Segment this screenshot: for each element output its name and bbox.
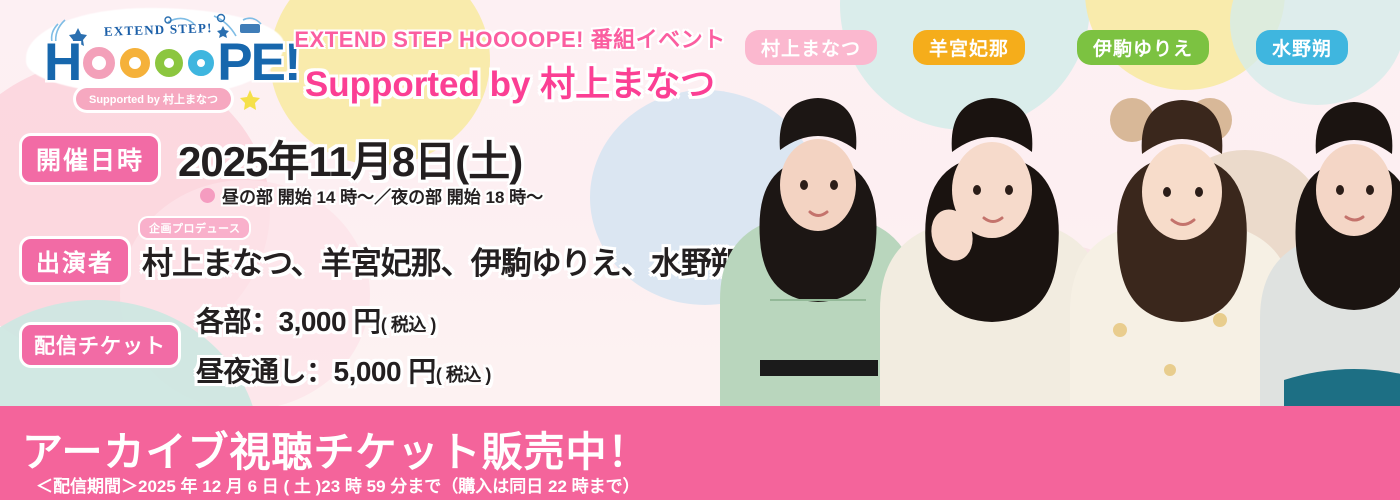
logo-wordmark: H PE! xyxy=(44,32,300,93)
bullet-dot-icon xyxy=(200,188,215,203)
price-block: 各部：3,000 円( 税込 ) 昼夜通し：5,000 円( 税込 ) xyxy=(196,300,491,390)
logo-ring-2 xyxy=(120,48,150,78)
headline-line-2: Supported by 村上まなつ xyxy=(290,56,730,107)
archive-banner-subtext: ＜配信期間＞2025 年 12 月 6 日 ( 土 )23 時 59 分まで（購… xyxy=(36,472,640,497)
date-label-tag: 開催日時 xyxy=(22,136,158,182)
ticket-label-tag: 配信チケット xyxy=(22,325,178,365)
price-2-value: 昼夜通し：5,000 円 xyxy=(196,356,436,387)
ticket-row: 配信チケット 各部：3,000 円( 税込 ) 昼夜通し：5,000 円( 税込… xyxy=(22,300,491,390)
price-1-value: 各部：3,000 円 xyxy=(196,306,381,337)
date-subtext-label: 昼の部 開始 14 時～／夜の部 開始 18 時～ xyxy=(222,183,543,208)
headline-line-1: EXTEND STEP HOOOOPE! 番組イベント xyxy=(290,22,730,54)
cast-value: 村上まなつ、羊宮妃那、伊駒ゆりえ、水野朔 xyxy=(142,238,741,283)
logo-ring-4 xyxy=(188,50,214,76)
logo-supported-badge: Supported by 村上まなつ xyxy=(76,88,231,110)
logo-letter-pe: PE! xyxy=(217,32,299,93)
date-value: 2025年11月8日(土) xyxy=(178,128,522,189)
price-line-1: 各部：3,000 円( 税込 ) xyxy=(196,300,491,340)
logo-letter-h: H xyxy=(44,32,80,93)
price-line-2: 昼夜通し：5,000 円( 税込 ) xyxy=(196,350,491,390)
price-2-tax: ( 税込 ) xyxy=(436,365,491,385)
logo-ring-3 xyxy=(155,49,183,77)
headline: EXTEND STEP HOOOOPE! 番組イベント Supported by… xyxy=(290,22,730,107)
hooope-logo[interactable]: EXTEND STEP! H PE! Supported by 村上まなつ xyxy=(18,2,293,114)
archive-ticket-banner[interactable]: アーカイブ視聴チケット販売中！ ＜配信期間＞2025 年 12 月 6 日 ( … xyxy=(0,406,1400,500)
cast-row: 出演者 村上まなつ、羊宮妃那、伊駒ゆりえ、水野朔 xyxy=(22,238,741,283)
cast-label-tag: 出演者 xyxy=(22,239,128,282)
logo-ring-1 xyxy=(83,47,115,79)
price-1-tax: ( 税込 ) xyxy=(381,315,436,335)
date-subtext: 昼の部 開始 14 時～／夜の部 開始 18 時～ xyxy=(200,183,543,208)
archive-banner-headline: アーカイブ視聴チケット販売中！ xyxy=(22,418,650,478)
cast-producer-tag: 企画プロデュース xyxy=(140,218,249,238)
event-banner: EXTEND STEP! H PE! Supported by 村上まなつ EX… xyxy=(0,0,1400,500)
date-row: 開催日時 2025年11月8日(土) xyxy=(22,128,522,189)
